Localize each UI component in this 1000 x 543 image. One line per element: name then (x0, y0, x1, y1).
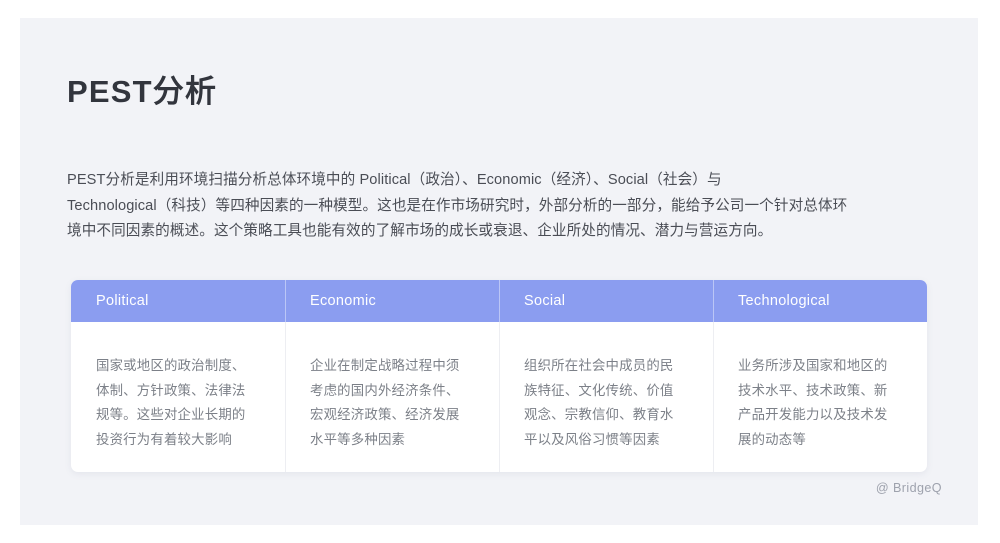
table-header-row: Political Economic Social Technological (71, 280, 927, 322)
table-row: 国家或地区的政治制度、体制、方针政策、法律法规等。这些对企业长期的投资行为有着较… (71, 322, 927, 472)
table-cell-economic: 企业在制定战略过程中须考虑的国内外经济条件、宏观经济政策、经济发展水平等多种因素 (285, 322, 499, 472)
table-header-economic: Economic (285, 280, 499, 322)
table-cell-political: 国家或地区的政治制度、体制、方针政策、法律法规等。这些对企业长期的投资行为有着较… (71, 322, 285, 472)
table-header-social: Social (499, 280, 713, 322)
table-cell-social: 组织所在社会中成员的民族特征、文化传统、价值观念、宗教信仰、教育水平以及风俗习惯… (499, 322, 713, 472)
footer-credit: @ BridgeQ (876, 481, 942, 495)
paragraph-line-1: PEST分析是利用环境扫描分析总体环境中的 Political（政治）、Econ… (67, 168, 933, 194)
page-title: PEST分析 (67, 73, 217, 110)
table-header-technological: Technological (713, 280, 927, 322)
paragraph-line-3: 境中不同因素的概述。这个策略工具也能有效的了解市场的成长或衰退、企业所处的情况、… (67, 219, 933, 245)
slide-canvas: PEST分析 PEST分析是利用环境扫描分析总体环境中的 Political（政… (20, 18, 978, 525)
paragraph-line-2: Technological（科技）等四种因素的一种模型。这也是在作市场研究时，外… (67, 194, 933, 220)
pest-table: Political Economic Social Technological … (71, 280, 927, 472)
table-header-political: Political (71, 280, 285, 322)
table-cell-technological: 业务所涉及国家和地区的技术水平、技术政策、新产品开发能力以及技术发展的动态等 (713, 322, 927, 472)
intro-paragraph: PEST分析是利用环境扫描分析总体环境中的 Political（政治）、Econ… (67, 168, 933, 245)
